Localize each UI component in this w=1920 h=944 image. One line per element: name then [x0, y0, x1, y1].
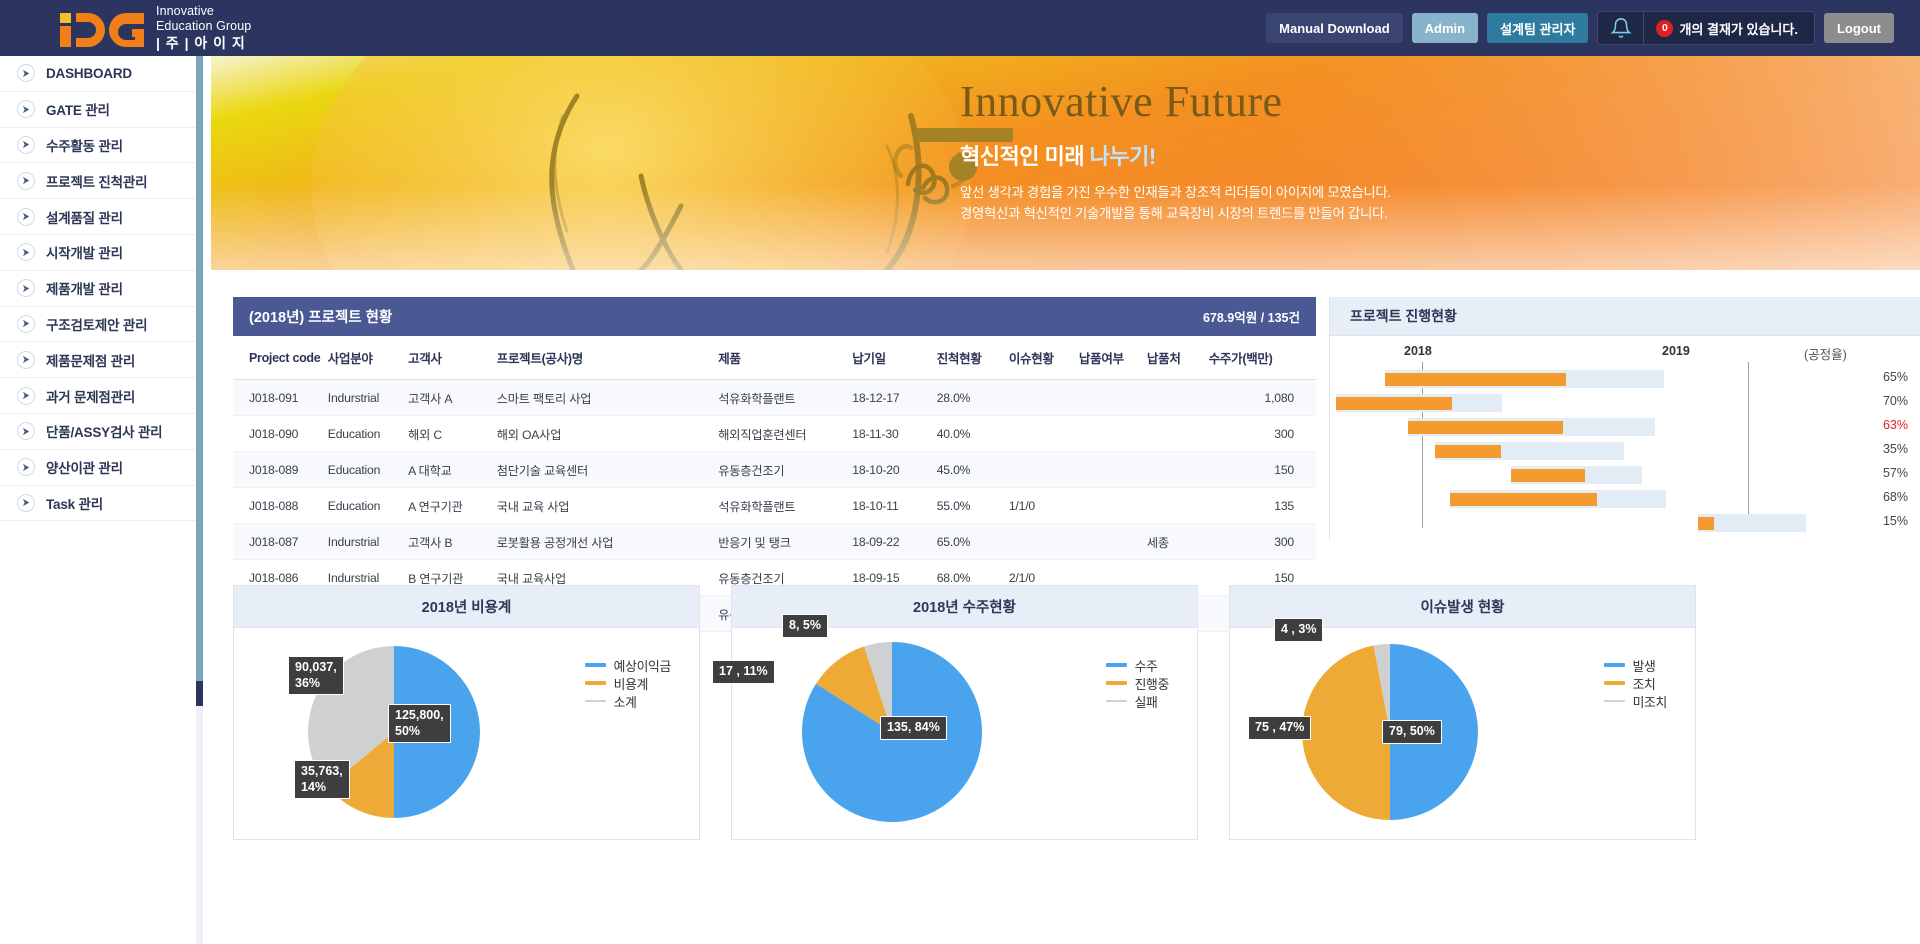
- cell-due: 18-12-17: [852, 380, 936, 416]
- cell-client: A 연구기관: [408, 488, 497, 524]
- pie-data-label: 79, 50%: [1382, 720, 1442, 744]
- legend-swatch: [1604, 700, 1625, 702]
- sidebar-item-12[interactable]: Task 관리: [0, 486, 201, 522]
- gantt-percent: 63%: [1883, 418, 1908, 432]
- gantt-row: 15%: [1330, 514, 1920, 532]
- project-table-header-row: Project code사업분야고객사프로젝트(공사)명제품납기일진척현황이슈현…: [233, 336, 1316, 380]
- sidebar-item-8[interactable]: 제품문제점 관리: [0, 342, 201, 378]
- column-header-7: 이슈현황: [1009, 336, 1079, 380]
- header-actions: Manual Download Admin 설계팀 관리자 0 개의 결재가 있…: [1266, 11, 1920, 45]
- chevron-right-icon: [17, 458, 35, 476]
- top-header-bar: Innovative Education Group | 주 | 아 이 지 M…: [0, 0, 1920, 56]
- cell-dest: [1147, 488, 1209, 524]
- pie-data-label: 75 , 47%: [1248, 716, 1311, 740]
- hero-banner: Innovative Future 혁신적인 미래 나누기! 앞선 생각과 경험…: [211, 56, 1920, 270]
- cell-name: 해외 OA사업: [497, 416, 719, 452]
- sidebar-item-6[interactable]: 제품개발 관리: [0, 271, 201, 307]
- legend-swatch: [1604, 681, 1625, 685]
- legend-label: 수주: [1135, 656, 1158, 675]
- sidebar-item-4[interactable]: 설계품질 관리: [0, 199, 201, 235]
- cell-price: 1,080: [1209, 380, 1316, 416]
- legend-item: 소계: [585, 692, 671, 710]
- project-status-summary: 678.9억원 / 135건: [1203, 307, 1300, 326]
- logo-line-3: | 주 | 아 이 지: [156, 35, 251, 52]
- project-status-title: (2018년) 프로젝트 현황: [249, 306, 392, 327]
- sidebar-item-label: 프로젝트 진척관리: [46, 171, 147, 191]
- gantt-axis-right: 2019: [1662, 344, 1690, 358]
- cell-product: 해외직업훈련센터: [718, 416, 852, 452]
- gantt-fill: [1435, 445, 1501, 458]
- legend-label: 실패: [1135, 692, 1158, 711]
- gantt-axis-unit: (공정율): [1804, 344, 1847, 363]
- sidebar-item-3[interactable]: 프로젝트 진척관리: [0, 163, 201, 199]
- gantt-fill: [1450, 493, 1597, 506]
- cell-progress: 65.0%: [937, 524, 1009, 560]
- chevron-right-icon: [17, 136, 35, 154]
- cell-issue: [1009, 452, 1079, 488]
- sidebar-item-label: 단품/ASSY검사 관리: [46, 421, 162, 441]
- team-admin-button[interactable]: 설계팀 관리자: [1487, 13, 1588, 43]
- brand-logo-text: Innovative Education Group | 주 | 아 이 지: [156, 4, 251, 51]
- order-pie-panel: 2018년 수주현황 수주진행중실패135, 84%17 , 11%8, 5%: [731, 585, 1198, 840]
- gantt-track: [1698, 514, 1806, 532]
- sidebar-item-label: 제품문제점 관리: [46, 350, 135, 370]
- cell-issue: [1009, 524, 1079, 560]
- table-row[interactable]: J018-087Indurstrial고객사 B로봇활용 공정개선 사업반응기 …: [233, 524, 1316, 560]
- cell-dest: 세종: [1147, 524, 1209, 560]
- cell-due: 18-10-20: [852, 452, 936, 488]
- sidebar-item-label: 제품개발 관리: [46, 278, 123, 298]
- pie-data-label: 8, 5%: [782, 614, 828, 638]
- cell-name: 첨단기술 교육센터: [497, 452, 719, 488]
- legend-item: 예상이익금: [585, 656, 671, 674]
- legend-label: 미조치: [1633, 692, 1667, 711]
- sidebar-item-10[interactable]: 단품/ASSY검사 관리: [0, 414, 201, 450]
- hero-banner-text: Innovative Future 혁신적인 미래 나누기! 앞선 생각과 경험…: [960, 78, 1860, 225]
- table-row[interactable]: J018-091Indurstrial고객사 A스마트 팩토리 사업석유화학플랜…: [233, 380, 1316, 416]
- order-pie-legend: 수주진행중실패: [1106, 656, 1169, 710]
- legend-label: 발생: [1633, 656, 1656, 675]
- sidebar-item-label: Task 관리: [46, 493, 103, 513]
- hero-subtitle: 혁신적인 미래 나누기!: [960, 139, 1860, 171]
- hero-description-line-1: 앞선 생각과 경험을 가진 우수한 인재들과 창조적 리더들이 아이지에 모였습…: [960, 183, 1860, 204]
- bell-icon[interactable]: [1598, 11, 1644, 45]
- hero-subtitle-accent: 나누기!: [1090, 144, 1156, 169]
- cell-due: 18-09-22: [852, 524, 936, 560]
- chevron-right-icon: [17, 100, 35, 118]
- cell-field: Education: [328, 488, 408, 524]
- cell-field: Education: [328, 452, 408, 488]
- cost-pie-legend: 예상이익금비용계소계: [585, 656, 671, 710]
- cell-dest: [1147, 380, 1209, 416]
- gantt-row: 63%: [1330, 418, 1920, 436]
- cost-pie-body: 예상이익금비용계소계125,800,50%35,763,14%90,037,36…: [234, 628, 699, 840]
- project-progress-header: 프로젝트 진행현황: [1330, 297, 1920, 336]
- cell-field: Indurstrial: [328, 524, 408, 560]
- cell-client: A 대학교: [408, 452, 497, 488]
- logout-button[interactable]: Logout: [1824, 13, 1894, 43]
- gantt-percent: 68%: [1883, 490, 1908, 504]
- pie-data-label: 17 , 11%: [712, 660, 775, 684]
- hero-title: Innovative Future: [960, 78, 1860, 126]
- cell-price: 300: [1209, 524, 1316, 560]
- sidebar-item-1[interactable]: GATE 관리: [0, 92, 201, 128]
- notification-panel[interactable]: 0 개의 결재가 있습니다.: [1597, 11, 1814, 45]
- cell-dest: [1147, 416, 1209, 452]
- gantt-track: [1511, 466, 1642, 484]
- gantt-fill: [1336, 397, 1453, 410]
- hero-description: 앞선 생각과 경험을 가진 우수한 인재들과 창조적 리더들이 아이지에 모였습…: [960, 183, 1860, 225]
- gantt-fill: [1385, 373, 1566, 386]
- legend-item: 발생: [1604, 656, 1667, 674]
- sidebar-item-7[interactable]: 구조검토제안 관리: [0, 307, 201, 343]
- gantt-fill: [1698, 517, 1714, 530]
- logo-line-2: Education Group: [156, 19, 251, 34]
- pie-data-label: 90,037,36%: [288, 656, 344, 695]
- cell-delivered: [1079, 452, 1147, 488]
- sidebar-item-label: 설계품질 관리: [46, 207, 123, 227]
- legend-swatch: [1106, 681, 1127, 685]
- gantt-percent: 57%: [1883, 466, 1908, 480]
- gantt-track: [1450, 490, 1666, 508]
- sidebar-item-0[interactable]: DASHBOARD: [0, 56, 201, 92]
- column-header-3: 프로젝트(공사)명: [497, 336, 719, 380]
- issue-pie-body: 발생조치미조치79, 50%75 , 47%4 , 3%: [1230, 628, 1695, 840]
- sidebar-item-label: 구조검토제안 관리: [46, 314, 147, 334]
- gantt-percent: 70%: [1883, 394, 1908, 408]
- cell-due: 18-11-30: [852, 416, 936, 452]
- hero-description-line-2: 경영혁신과 혁신적인 기술개발을 통해 교육장비 시장의 트렌드를 만들어 갑니…: [960, 204, 1860, 225]
- chevron-right-icon: [17, 64, 35, 82]
- issue-pie-legend: 발생조치미조치: [1604, 656, 1667, 710]
- cell-product: 유동층건조기: [718, 452, 852, 488]
- cell-delivered: [1079, 488, 1147, 524]
- cell-progress: 28.0%: [937, 380, 1009, 416]
- column-header-2: 고객사: [408, 336, 497, 380]
- cell-price: 300: [1209, 416, 1316, 452]
- cell-name: 국내 교육 사업: [497, 488, 719, 524]
- legend-item: 실패: [1106, 692, 1169, 710]
- scrollbar-cap-bottom: [196, 681, 203, 706]
- cell-price: 150: [1209, 452, 1316, 488]
- cell-issue: 1/1/0: [1009, 488, 1079, 524]
- brand-logo[interactable]: Innovative Education Group | 주 | 아 이 지: [0, 4, 251, 51]
- chevron-right-icon: [17, 494, 35, 512]
- column-header-8: 납품여부: [1079, 336, 1147, 380]
- gantt-percent: 35%: [1883, 442, 1908, 456]
- chevron-right-icon: [17, 315, 35, 333]
- chevron-right-icon: [17, 387, 35, 405]
- cost-pie-title: 2018년 비용계: [234, 586, 699, 628]
- sidebar-item-11[interactable]: 양산이관 관리: [0, 450, 201, 486]
- chevron-right-icon: [17, 243, 35, 261]
- notification-count-badge: 0: [1656, 20, 1673, 37]
- sidebar-item-label: GATE 관리: [46, 99, 110, 119]
- cell-code: J018-091: [233, 380, 328, 416]
- gantt-axis-left: 2018: [1404, 344, 1432, 358]
- gantt-row: 57%: [1330, 466, 1920, 484]
- gantt-track: [1408, 418, 1656, 436]
- legend-label: 비용계: [614, 674, 648, 693]
- pie-data-label: 35,763,14%: [294, 760, 350, 799]
- pie-data-label: 125,800,50%: [388, 704, 451, 743]
- cell-field: Indurstrial: [328, 380, 408, 416]
- issue-pie-panel: 이슈발생 현황 발생조치미조치79, 50%75 , 47%4 , 3%: [1229, 585, 1696, 840]
- legend-swatch: [585, 681, 606, 685]
- table-row[interactable]: J018-089EducationA 대학교첨단기술 교육센터유동층건조기18-…: [233, 452, 1316, 488]
- sidebar-item-5[interactable]: 시작개발 관리: [0, 235, 201, 271]
- gantt-row: 70%: [1330, 394, 1920, 412]
- project-progress-panel: 프로젝트 진행현황 2018 2019 (공정율) 65%70%63%35%57…: [1329, 297, 1920, 540]
- legend-swatch: [585, 700, 606, 702]
- cell-product: 반응기 및 탱크: [718, 524, 852, 560]
- legend-label: 예상이익금: [614, 656, 671, 675]
- sidebar-item-label: 수주활동 관리: [46, 135, 123, 155]
- legend-label: 조치: [1633, 674, 1656, 693]
- column-header-9: 납품처: [1147, 336, 1209, 380]
- sidebar-scrollbar[interactable]: [196, 56, 203, 944]
- cell-product: 석유화학플랜트: [718, 380, 852, 416]
- gantt-percent: 65%: [1883, 370, 1908, 384]
- legend-item: 비용계: [585, 674, 671, 692]
- notification-message: 개의 결재가 있습니다.: [1679, 19, 1797, 38]
- cell-code: J018-089: [233, 452, 328, 488]
- cell-client: 고객사 B: [408, 524, 497, 560]
- sidebar-navigation: DASHBOARDGATE 관리수주활동 관리프로젝트 진척관리설계품질 관리시…: [0, 56, 202, 944]
- legend-item: 미조치: [1604, 692, 1667, 710]
- cell-name: 스마트 팩토리 사업: [497, 380, 719, 416]
- gantt-row: 68%: [1330, 490, 1920, 508]
- cell-delivered: [1079, 380, 1147, 416]
- legend-label: 진행중: [1135, 674, 1169, 693]
- column-header-1: 사업분야: [328, 336, 408, 380]
- cell-progress: 45.0%: [937, 452, 1009, 488]
- column-header-5: 납기일: [852, 336, 936, 380]
- column-header-6: 진척현황: [937, 336, 1009, 380]
- scrollbar-thumb[interactable]: [196, 56, 203, 681]
- gantt-track: [1385, 370, 1664, 388]
- cell-code: J018-090: [233, 416, 328, 452]
- project-status-panel: (2018년) 프로젝트 현황 678.9억원 / 135건 Project c…: [233, 297, 1316, 540]
- notification-message-group: 0 개의 결재가 있습니다.: [1644, 19, 1813, 38]
- cell-product: 석유화학플랜트: [718, 488, 852, 524]
- legend-item: 진행중: [1106, 674, 1169, 692]
- cell-delivered: [1079, 524, 1147, 560]
- legend-item: 수주: [1106, 656, 1169, 674]
- gantt-fill: [1511, 469, 1585, 482]
- legend-swatch: [585, 663, 606, 667]
- cell-name: 로봇활용 공정개선 사업: [497, 524, 719, 560]
- chevron-right-icon: [17, 279, 35, 297]
- manual-download-button[interactable]: Manual Download: [1266, 13, 1403, 43]
- chevron-right-icon: [17, 172, 35, 190]
- logo-line-1: Innovative: [156, 4, 251, 19]
- cell-issue: [1009, 380, 1079, 416]
- cell-dest: [1147, 452, 1209, 488]
- order-pie-body: 수주진행중실패135, 84%17 , 11%8, 5%: [732, 628, 1197, 840]
- sidebar-item-9[interactable]: 과거 문제점관리: [0, 378, 201, 414]
- gantt-track: [1336, 394, 1503, 412]
- sidebar-item-2[interactable]: 수주활동 관리: [0, 128, 201, 164]
- cell-progress: 55.0%: [937, 488, 1009, 524]
- chevron-right-icon: [17, 351, 35, 369]
- sidebar-item-label: DASHBOARD: [46, 66, 132, 81]
- legend-swatch: [1106, 700, 1127, 702]
- cell-client: 해외 C: [408, 416, 497, 452]
- gantt-chart: 2018 2019 (공정율) 65%70%63%35%57%68%15%: [1330, 336, 1920, 540]
- sidebar-item-label: 과거 문제점관리: [46, 386, 135, 406]
- cost-pie-panel: 2018년 비용계 예상이익금비용계소계125,800,50%35,763,14…: [233, 585, 700, 840]
- sidebar-item-label: 시작개발 관리: [46, 242, 123, 262]
- project-status-header: (2018년) 프로젝트 현황 678.9억원 / 135건: [233, 297, 1316, 336]
- chevron-right-icon: [17, 422, 35, 440]
- legend-swatch: [1604, 663, 1625, 667]
- gantt-track: [1435, 442, 1624, 460]
- cell-delivered: [1079, 416, 1147, 452]
- pie-data-label: 4 , 3%: [1274, 618, 1323, 642]
- cell-client: 고객사 A: [408, 380, 497, 416]
- gantt-percent: 15%: [1883, 514, 1908, 528]
- table-row[interactable]: J018-088EducationA 연구기관국내 교육 사업석유화학플랜트18…: [233, 488, 1316, 524]
- legend-swatch: [1106, 663, 1127, 667]
- cell-issue: [1009, 416, 1079, 452]
- hero-subtitle-main: 혁신적인 미래: [960, 144, 1090, 169]
- cell-field: Education: [328, 416, 408, 452]
- sidebar-item-label: 양산이관 관리: [46, 457, 123, 477]
- table-row[interactable]: J018-090Education해외 C해외 OA사업해외직업훈련센터18-1…: [233, 416, 1316, 452]
- chevron-right-icon: [17, 208, 35, 226]
- cell-price: 135: [1209, 488, 1316, 524]
- column-header-10: 수주가(백만): [1209, 336, 1316, 380]
- admin-button[interactable]: Admin: [1412, 13, 1478, 43]
- project-progress-title: 프로젝트 진행현황: [1350, 306, 1457, 326]
- idg-logo-icon: [60, 8, 146, 48]
- gantt-row: 65%: [1330, 370, 1920, 388]
- cell-due: 18-10-11: [852, 488, 936, 524]
- column-header-0: Project code: [233, 336, 328, 380]
- gantt-fill: [1408, 421, 1564, 434]
- cell-code: J018-087: [233, 524, 328, 560]
- gantt-row: 35%: [1330, 442, 1920, 460]
- legend-item: 조치: [1604, 674, 1667, 692]
- legend-label: 소계: [614, 692, 637, 711]
- pie-data-label: 135, 84%: [880, 716, 947, 740]
- column-header-4: 제품: [718, 336, 852, 380]
- cell-code: J018-088: [233, 488, 328, 524]
- cell-progress: 40.0%: [937, 416, 1009, 452]
